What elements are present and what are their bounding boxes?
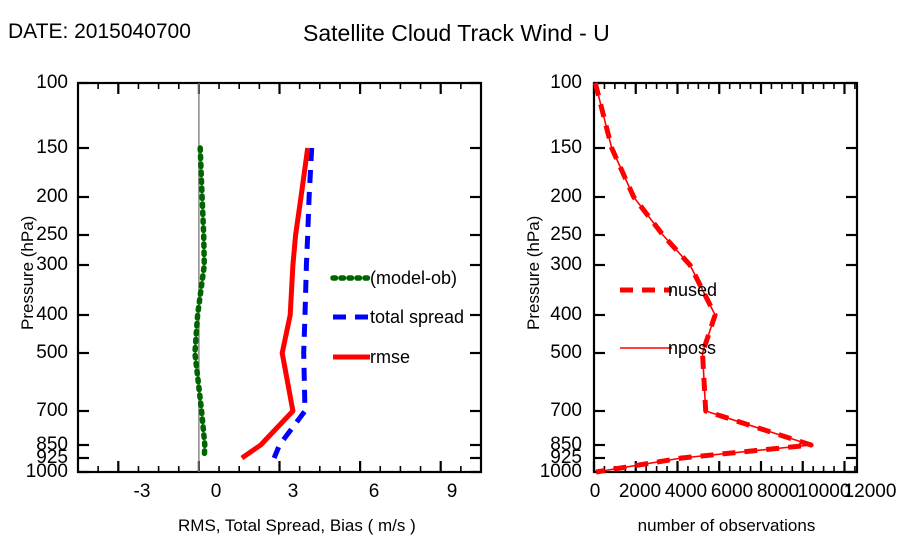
left-series-modelob xyxy=(195,148,205,458)
right-ytick-500: 500 xyxy=(534,342,582,364)
left-ytick-300: 300 xyxy=(20,254,68,276)
legend-label-total-spread: total spread xyxy=(370,307,464,328)
right-series-nposs xyxy=(595,83,811,472)
left-x-axis-title: RMS, Total Spread, Bias ( m/s ) xyxy=(178,516,388,536)
legend-label-nused: nused xyxy=(668,280,717,301)
right-xtick-12000: 12000 xyxy=(835,481,900,503)
left-xtick-neg3: -3 xyxy=(117,481,167,503)
left-ytick-100: 100 xyxy=(20,72,68,94)
left-ytick-700: 700 xyxy=(20,400,68,422)
left-xtick-0: 0 xyxy=(191,481,241,503)
left-ytick-150: 150 xyxy=(20,137,68,159)
left-xtick-6: 6 xyxy=(349,481,399,503)
legend-label-nposs: nposs xyxy=(668,338,716,359)
right-ytick-300: 300 xyxy=(534,254,582,276)
right-ytick-150: 150 xyxy=(534,137,582,159)
left-ytick-500: 500 xyxy=(20,342,68,364)
legend-label-model-ob: (model-ob) xyxy=(370,268,457,289)
right-plot-frame xyxy=(594,83,857,472)
figure-canvas: DATE: 2015040700 Satellite Cloud Track W… xyxy=(0,0,900,560)
left-series-rmse xyxy=(242,148,308,458)
left-xtick-9: 9 xyxy=(427,481,477,503)
right-series-nused xyxy=(595,83,811,472)
left-ytick-200: 200 xyxy=(20,186,68,208)
right-ytick-100: 100 xyxy=(534,72,582,94)
left-ytick-250: 250 xyxy=(20,224,68,246)
right-x-axis-title: number of observations xyxy=(619,516,834,536)
right-ytick-400: 400 xyxy=(534,304,582,326)
legend-label-rmse: rmse xyxy=(370,347,410,368)
right-ytick-200: 200 xyxy=(534,186,582,208)
right-ytick-1000: 1000 xyxy=(524,461,582,483)
left-xtick-3: 3 xyxy=(268,481,318,503)
left-ytick-400: 400 xyxy=(20,304,68,326)
right-ytick-700: 700 xyxy=(534,400,582,422)
left-ytick-1000: 1000 xyxy=(10,461,68,483)
right-ytick-250: 250 xyxy=(534,224,582,246)
